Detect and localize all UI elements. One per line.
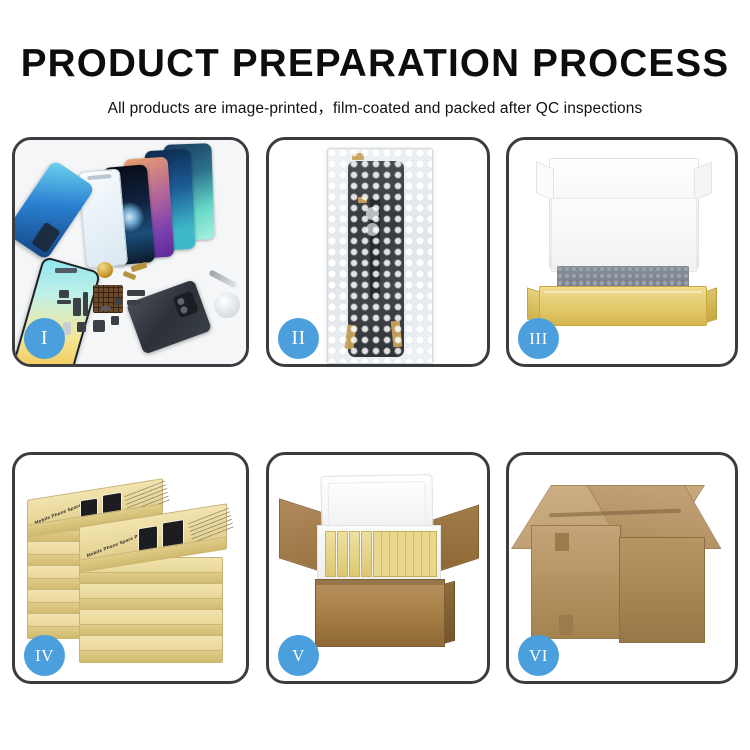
tape-top (352, 153, 364, 160)
step-panel-4[interactable]: Mobile Phone Spare Parts Mobile Phone Sp… (12, 452, 249, 684)
stacked-box-f3 (79, 583, 223, 611)
tape-patch-upper (555, 533, 569, 551)
step-badge-4: IV (24, 635, 65, 676)
inner-box-slot-4 (361, 531, 372, 577)
part-microphone (115, 298, 122, 305)
inner-box-slot-1 (325, 531, 336, 577)
part-button (101, 306, 110, 311)
carton-body (315, 579, 445, 647)
part-speaker (77, 322, 86, 332)
vibration-motor-part (97, 262, 113, 278)
step-panel-6[interactable]: VI (506, 452, 738, 684)
inner-box-slot-3 (349, 531, 360, 577)
page-subtitle: All products are image-printed，film-coat… (0, 96, 750, 118)
header: PRODUCT PREPARATION PROCESS All products… (0, 0, 750, 118)
part-strip-3 (127, 300, 141, 305)
camera-module-icon (173, 291, 199, 319)
inner-box-group (373, 531, 437, 577)
product-preparation-infographic: PRODUCT PREPARATION PROCESS All products… (0, 0, 750, 750)
step-badge-1: I (24, 318, 65, 359)
step-panel-1[interactable]: I (12, 137, 249, 367)
step-badge-3: III (518, 318, 559, 359)
step-badge-2: II (278, 318, 319, 359)
tape-patch-lower (559, 615, 573, 635)
step-badge-6: VI (518, 635, 559, 676)
stacked-box-f5 (79, 635, 223, 663)
carton-face-right (619, 537, 705, 643)
stacked-box-f4 (79, 609, 223, 637)
bubble-wrap-bag (327, 148, 433, 364)
part-cable-1 (83, 292, 88, 316)
foam-sheet (551, 198, 697, 272)
part-connector-1 (59, 290, 69, 298)
part-strip-1 (55, 268, 77, 273)
steps-grid: I II (0, 137, 750, 697)
inner-box-slot-2 (337, 531, 348, 577)
kraft-inner-box (539, 286, 707, 326)
wrapped-camera-ring (366, 207, 379, 220)
step-panel-2[interactable]: II (266, 137, 490, 367)
page-title: PRODUCT PREPARATION PROCESS (4, 44, 747, 83)
tape-middle (358, 197, 367, 203)
part-strip-2 (127, 290, 145, 296)
part-buzzer (93, 320, 105, 332)
step-panel-5[interactable]: V (266, 452, 490, 684)
carton-face-left (531, 525, 621, 639)
part-sim-tray (111, 316, 119, 325)
step-panel-3[interactable]: III (506, 137, 738, 367)
step-badge-5: V (278, 635, 319, 676)
part-connector-2 (73, 298, 81, 316)
part-connector-3 (57, 300, 71, 304)
wrapped-sensor-ring (366, 223, 379, 236)
tool-grip-icon (214, 292, 240, 318)
